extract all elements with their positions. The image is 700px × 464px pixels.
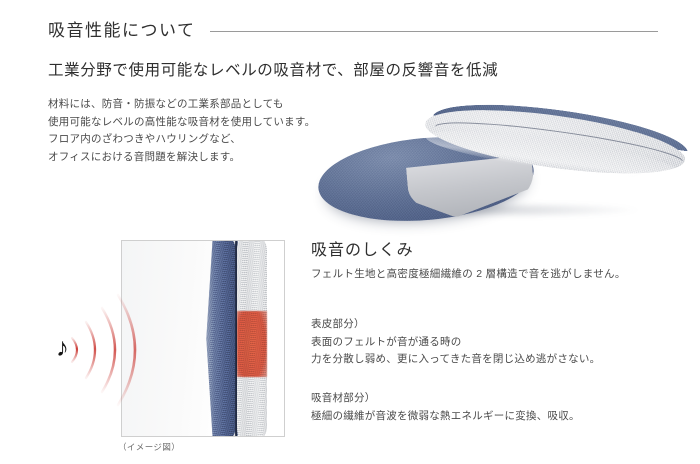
wave-arc-1: [72, 338, 77, 362]
wave-arc-group: [72, 295, 135, 405]
mechanism-block-core: 吸音材部分） 極細の繊維が音波を微弱な熱エネルギーに変換、吸収。: [311, 390, 580, 425]
mechanism-line: 力を分散し弱め、更に入ってきた音を閉じ込め逃がさない。: [311, 351, 600, 369]
mechanism-subtitle: フェルト生地と高密度極細繊維の 2 層構造で音を逃がしません。: [311, 266, 626, 281]
cross-section-blue-felt-layer: [206, 240, 236, 437]
mechanism-block-surface: 表皮部分） 表面のフェルトが音が通る時の 力を分散し弱め、更に入ってきた音を閉じ…: [311, 316, 600, 369]
mechanism-heading: 吸音のしくみ: [311, 236, 414, 260]
lead-heading: 工業分野で使用可能なレベルの吸音材で、部屋の反響音を低減: [48, 58, 498, 80]
cross-section-absorption-hotzone: [237, 311, 267, 377]
figure-caption: （イメージ図）: [118, 441, 180, 453]
music-note-icon: ♪: [56, 334, 69, 360]
mechanism-line: 表面のフェルトが音が通る時の: [311, 334, 600, 352]
header-divider-rule: [210, 31, 659, 32]
mechanism-line: 極細の繊維が音波を微弱な熱エネルギーに変換、吸収。: [311, 408, 580, 426]
wave-arc-4: [118, 295, 135, 405]
mechanism-line: 表皮部分）: [311, 316, 600, 334]
wave-arc-2: [86, 322, 95, 378]
felt-discs-photo: [312, 108, 680, 216]
mechanism-line: 吸音材部分）: [311, 390, 580, 408]
page-title: 吸音性能について: [48, 22, 196, 39]
section-header: 吸音性能について: [48, 16, 658, 44]
disc-group: [312, 108, 680, 216]
wave-arc-3: [102, 308, 115, 392]
